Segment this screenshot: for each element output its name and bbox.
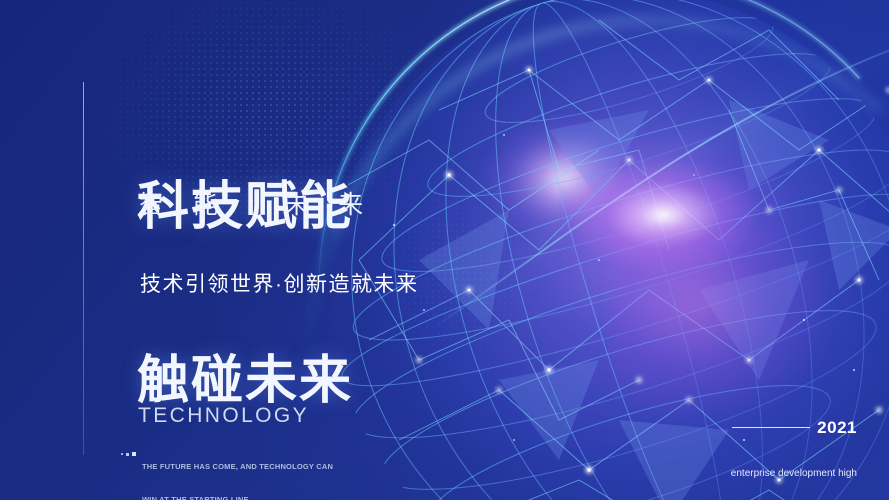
footnote-line-1: THE FUTURE HAS COME, AND TECHNOLOGY CAN — [142, 461, 333, 472]
subheadline: 智 能 · 未 来 — [139, 190, 374, 220]
vertical-accent-rule — [83, 82, 84, 455]
halftone-dot-texture-secondary — [400, 120, 660, 380]
year-badge: 2021 — [732, 419, 857, 436]
globe-core-glow — [560, 140, 790, 290]
footnote-line-2: WIN AT THE STARTING LINE — [142, 494, 333, 500]
dot-large — [132, 452, 136, 456]
forum-line-1: enterprise development high — [731, 467, 857, 480]
year-divider-rule — [732, 427, 810, 429]
year-label: 2021 — [817, 419, 857, 436]
dot-medium — [126, 453, 129, 456]
tagline-chinese: 技术引领世界·创新造就未来 — [140, 272, 419, 298]
square-dot-marker — [121, 452, 136, 456]
forum-caption: enterprise development high tech Researc… — [731, 441, 857, 500]
english-line-1: TECHNOLOGY — [138, 400, 389, 432]
globe-limb-glow — [430, 10, 889, 340]
poster-canvas: 科技赋能 触碰未来 智 能 · 未 来 技术引领世界·创新造就未来 TECHNO… — [0, 0, 889, 500]
globe-magenta-glow — [610, 230, 830, 420]
footnote: THE FUTURE HAS COME, AND TECHNOLOGY CAN … — [142, 439, 333, 500]
dot-small — [121, 453, 123, 455]
